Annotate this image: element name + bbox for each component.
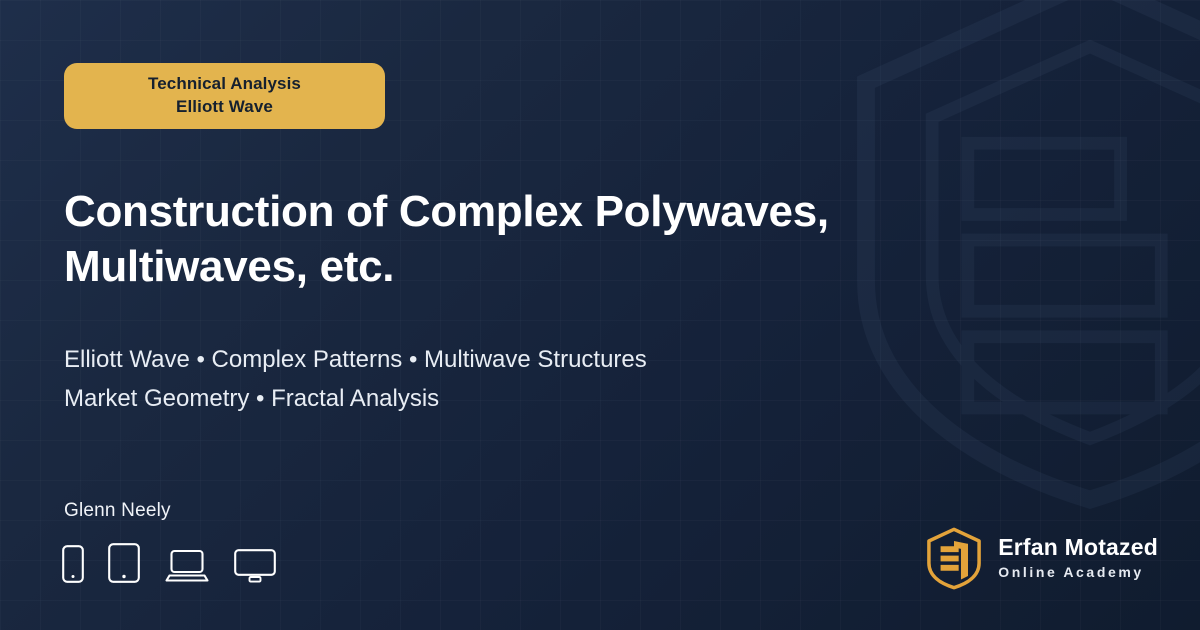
shield-monogram-icon xyxy=(924,527,984,590)
slide-subtitle: Elliott Wave • Complex Patterns • Multiw… xyxy=(64,341,964,419)
author-name: Glenn Neely xyxy=(64,500,171,522)
brand-tagline: Online Academy xyxy=(998,562,1158,583)
phone-icon xyxy=(62,545,84,583)
slide-content: Technical Analysis Elliott Wave Construc… xyxy=(0,0,1200,630)
subtitle-line-1: Elliott Wave • Complex Patterns • Multiw… xyxy=(64,341,964,380)
brand-name: Erfan Motazed xyxy=(998,534,1158,560)
laptop-icon xyxy=(164,549,210,583)
device-availability-icons xyxy=(62,543,276,583)
badge-line-2: Elliott Wave xyxy=(64,95,385,118)
presentation-slide: Technical Analysis Elliott Wave Construc… xyxy=(0,0,1200,630)
tablet-icon xyxy=(108,543,140,583)
brand-text-block: Erfan Motazed Online Academy xyxy=(998,534,1158,583)
desktop-icon xyxy=(234,549,276,583)
badge-line-1: Technical Analysis xyxy=(64,72,385,95)
slide-title: Construction of Complex Polywaves, Multi… xyxy=(64,184,1054,295)
brand-logo: Erfan Motazed Online Academy xyxy=(924,527,1158,590)
subtitle-line-2: Market Geometry • Fractal Analysis xyxy=(64,380,964,419)
category-badge: Technical Analysis Elliott Wave xyxy=(64,63,385,129)
